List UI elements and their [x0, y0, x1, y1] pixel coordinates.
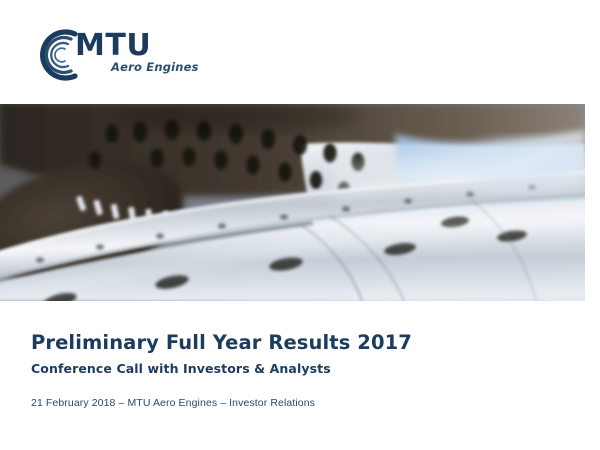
slide-title: Preliminary Full Year Results 2017 [31, 331, 412, 354]
presentation-slide: MTU Aero Engines [0, 0, 600, 450]
logo-tagline: Aero Engines [111, 60, 205, 74]
hero-image [0, 104, 585, 301]
logo-wordmark: MTU [75, 30, 205, 62]
slide-subtitle: Conference Call with Investors & Analyst… [31, 361, 331, 376]
brand-logo: MTU Aero Engines [31, 27, 211, 83]
logo-wordmark-group: MTU Aero Engines [75, 30, 205, 74]
slide-meta: 21 February 2018 – MTU Aero Engines – In… [31, 397, 315, 409]
